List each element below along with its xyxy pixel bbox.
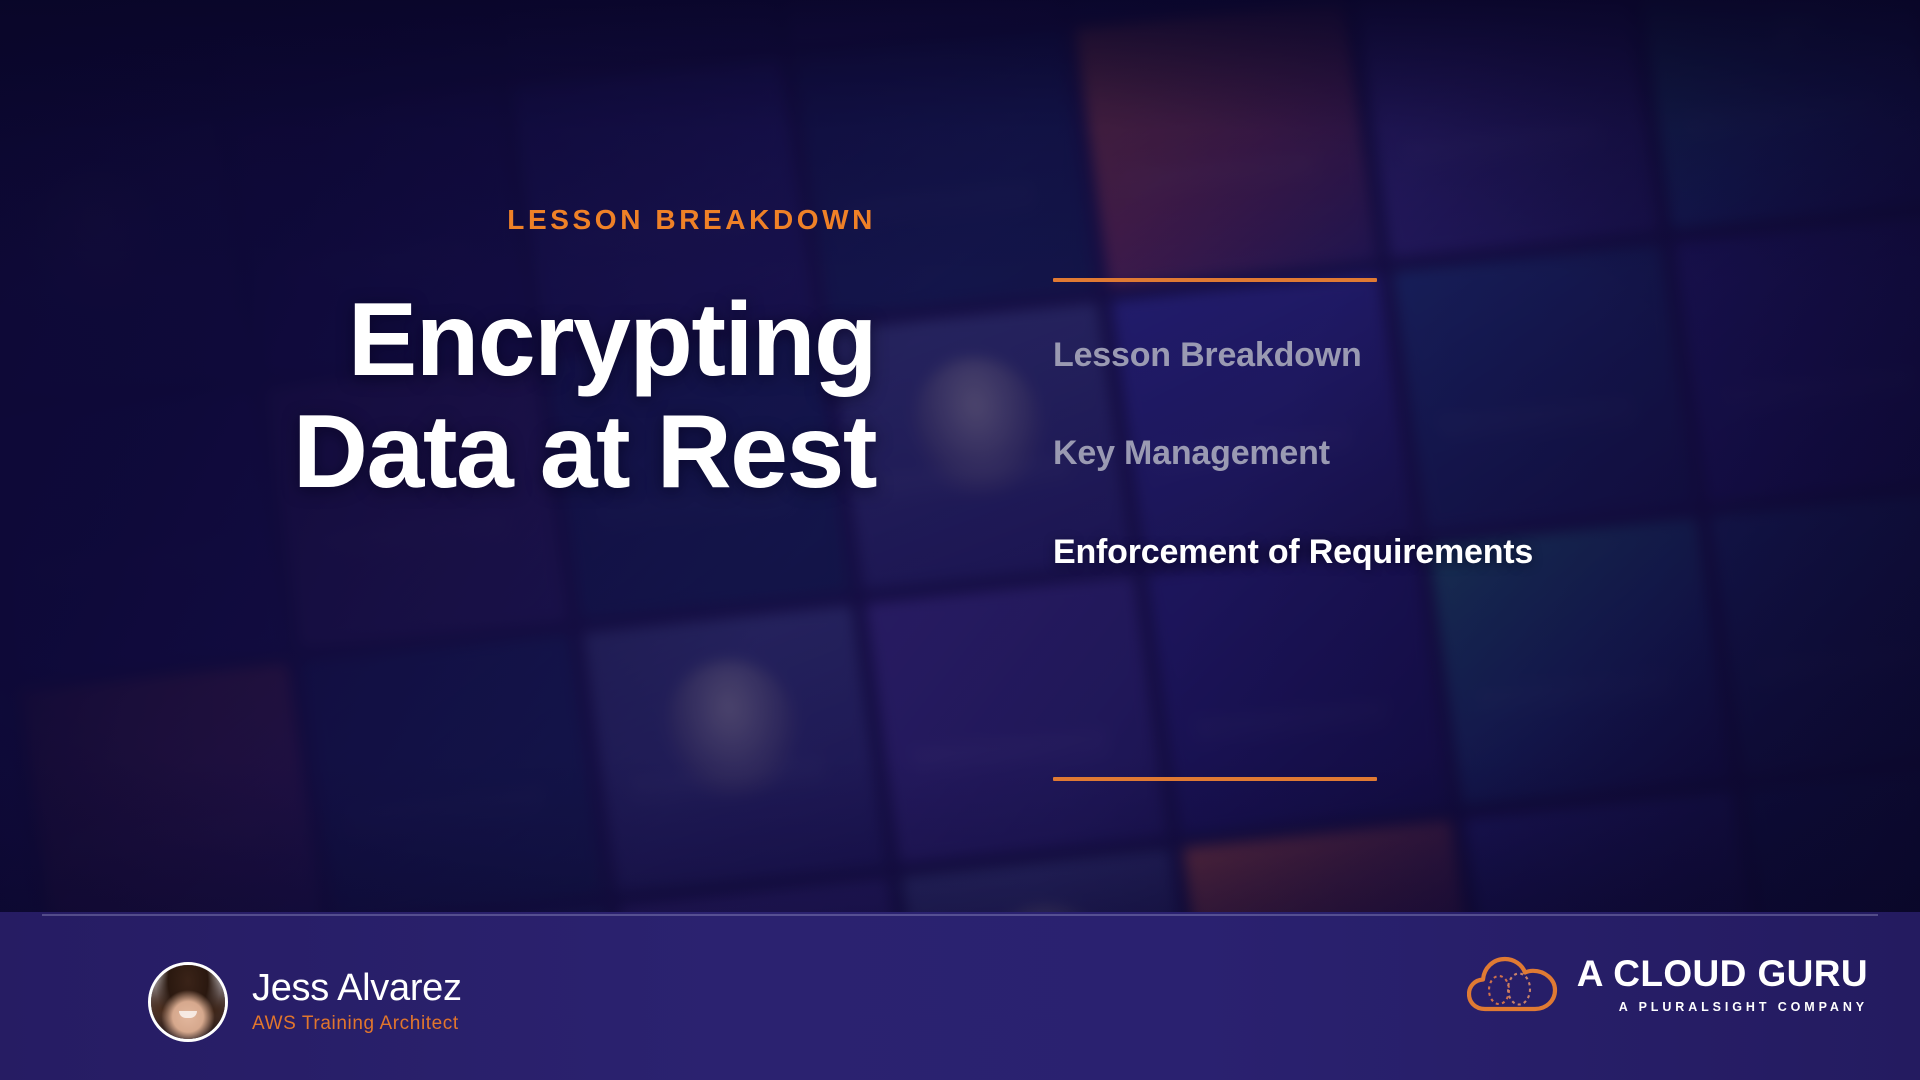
slide-root: LESSON BREAKDOWN Encrypting Data at Rest… xyxy=(0,0,1920,1080)
agenda-panel: Lesson Breakdown Key Management Enforcem… xyxy=(1053,278,1613,632)
presenter-text: Jess Alvarez AWS Training Architect xyxy=(252,969,462,1036)
brand-name: A CLOUD GURU xyxy=(1577,955,1868,992)
presenter-role: AWS Training Architect xyxy=(252,1013,462,1035)
brand-tagline: A PLURALSIGHT COMPANY xyxy=(1577,1001,1868,1014)
page-title: Encrypting Data at Rest xyxy=(240,284,876,509)
agenda-list: Lesson Breakdown Key Management Enforcem… xyxy=(1053,337,1613,571)
eyebrow-label: LESSON BREAKDOWN xyxy=(240,206,876,234)
presenter-name: Jess Alvarez xyxy=(252,969,462,1009)
avatar-smile-detail xyxy=(179,1011,197,1018)
avatar-photo-icon xyxy=(151,965,225,1039)
headline-block: LESSON BREAKDOWN Encrypting Data at Rest xyxy=(240,206,876,509)
agenda-item-enforcement-of-requirements[interactable]: Enforcement of Requirements xyxy=(1053,534,1613,571)
presenter-block: Jess Alvarez AWS Training Architect xyxy=(148,962,462,1042)
agenda-bottom-rule xyxy=(1053,777,1377,781)
cloud-icon xyxy=(1467,952,1559,1016)
agenda-item-lesson-breakdown[interactable]: Lesson Breakdown xyxy=(1053,337,1613,374)
agenda-item-key-management[interactable]: Key Management xyxy=(1053,435,1613,472)
brand-logo: A CLOUD GURU A PLURALSIGHT COMPANY xyxy=(1467,952,1868,1016)
footer-divider xyxy=(42,914,1878,916)
avatar xyxy=(148,962,228,1042)
agenda-top-rule xyxy=(1053,278,1377,282)
brand-text: A CLOUD GURU A PLURALSIGHT COMPANY xyxy=(1577,955,1868,1014)
